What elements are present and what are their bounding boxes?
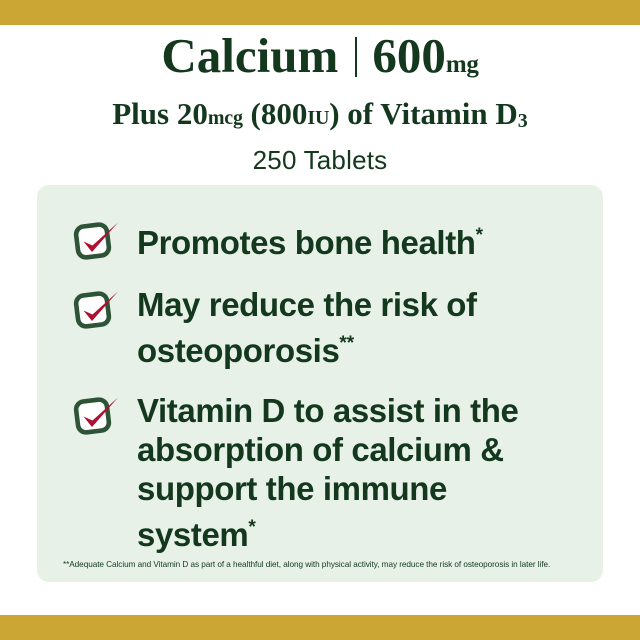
benefits-panel: Promotes bone health* May reduce the ris…: [37, 185, 603, 582]
product-header: Calcium600mg Plus 20mcg (800IU) of Vitam…: [0, 28, 640, 176]
benefits-list: Promotes bone health* May reduce the ris…: [71, 214, 571, 554]
benefit-text: Vitamin D to assist in the absorption of…: [137, 392, 518, 553]
iu-unit: IU: [307, 107, 329, 129]
top-gold-band: [0, 0, 640, 25]
bottom-gold-band: [0, 615, 640, 640]
benefit-footnote-mark: *: [248, 517, 255, 538]
check-badge-icon: [71, 285, 123, 333]
vitamin-d-subtitle: Plus 20mcg (800IU) of Vitamin D3: [0, 95, 640, 140]
product-title-line: Calcium600mg: [0, 28, 640, 93]
check-badge-icon: [71, 216, 123, 264]
benefit-item: Vitamin D to assist in the absorption of…: [71, 389, 571, 554]
iu-close-paren: ): [329, 96, 347, 131]
benefit-item: May reduce the risk of osteoporosis**: [71, 283, 571, 370]
subtitle-prefix: Plus: [112, 96, 177, 131]
product-label-page: Calcium600mg Plus 20mcg (800IU) of Vitam…: [0, 0, 640, 640]
check-badge-icon: [71, 391, 123, 439]
benefit-label: Promotes bone health*: [137, 216, 483, 262]
benefit-text: Promotes bone health: [137, 224, 476, 261]
vitamin-d-subscript: 3: [518, 110, 528, 132]
benefit-text: May reduce the risk of osteoporosis: [137, 286, 477, 369]
vitamin-d-amount: 20: [177, 96, 208, 131]
benefit-label: May reduce the risk of osteoporosis**: [137, 285, 571, 370]
iu-amount: 800: [261, 96, 308, 131]
benefit-item: Promotes bone health*: [71, 214, 571, 264]
title-divider: [355, 37, 357, 77]
dose-unit: mg: [446, 51, 479, 78]
subtitle-middle: of Vitamin D: [347, 96, 518, 131]
vitamin-d-unit: mcg: [208, 107, 243, 129]
benefit-label: Vitamin D to assist in the absorption of…: [137, 391, 571, 554]
panel-footnote: **Adequate Calcium and Vitamin D as part…: [63, 559, 583, 570]
product-name: Calcium: [161, 28, 338, 83]
benefit-footnote-mark: **: [339, 333, 354, 354]
benefit-footnote-mark: *: [476, 225, 483, 246]
tablet-count: 250 Tablets: [0, 144, 640, 176]
iu-open-paren: (: [243, 96, 261, 131]
dose-amount: 600: [372, 28, 446, 83]
